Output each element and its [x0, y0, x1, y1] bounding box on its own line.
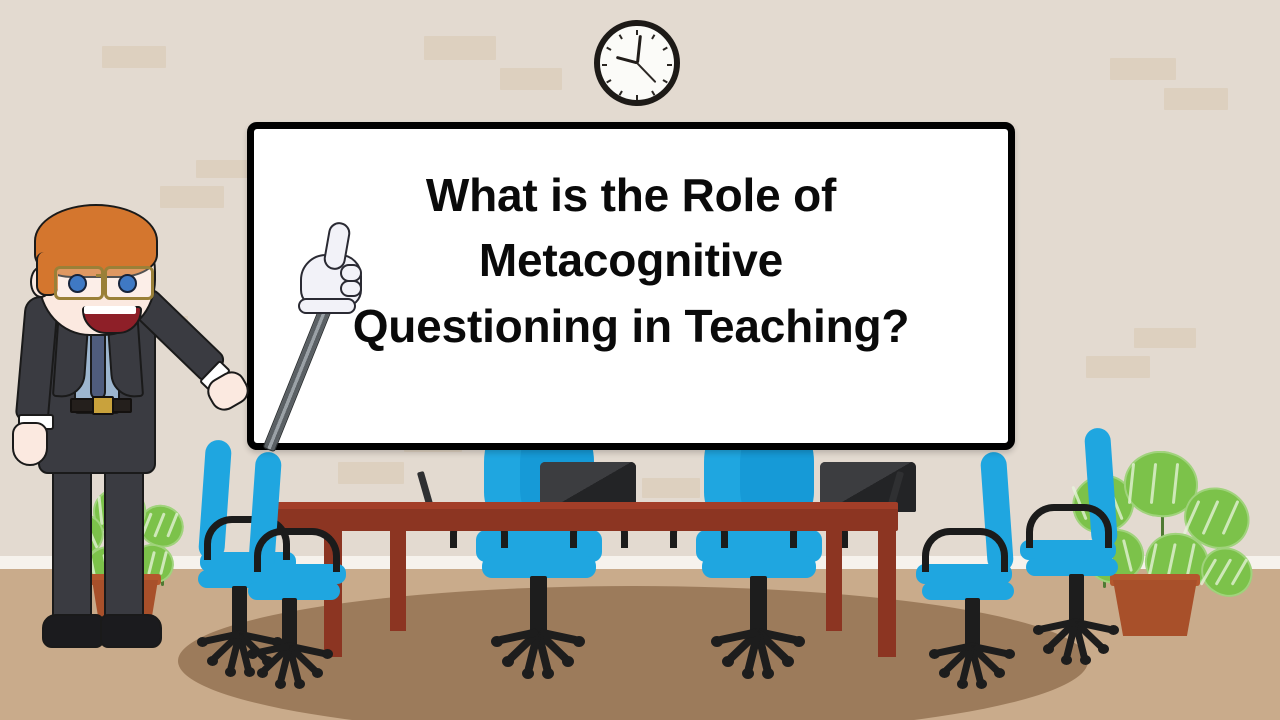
clock-tick: [636, 30, 638, 35]
chair-center-right-seat-front: [702, 556, 816, 578]
table-leg-right: [878, 531, 896, 657]
wall-brick: [1134, 328, 1196, 348]
chair-left-inner-armrest: [254, 528, 340, 572]
clock-tick: [602, 64, 607, 66]
title-line-2: Metacognitive: [280, 228, 982, 293]
chair-right-outer[interactable]: [1010, 428, 1120, 638]
clock-tick: [619, 34, 623, 39]
glasses-bridge: [96, 274, 106, 277]
chair-right-outer-post: [1069, 574, 1084, 622]
chair-left-inner-caster-wheel: [294, 679, 305, 689]
wall-brick: [102, 46, 166, 68]
presenter-avatar: [8, 222, 200, 672]
title-line-1: What is the Role of: [280, 163, 982, 228]
wall-brick: [424, 36, 496, 60]
clock-tick: [662, 79, 667, 83]
chair-right-outer-armrest: [1026, 504, 1112, 548]
clock-tick: [606, 79, 611, 83]
chair-right-inner-armrest: [922, 528, 1008, 572]
leg-left: [52, 454, 92, 630]
chair-center-right-caster-wheel: [762, 668, 774, 679]
glove-cuff: [298, 298, 356, 314]
clock-tick: [619, 90, 623, 95]
clock-tick: [606, 47, 611, 51]
chair-left-outer-post: [232, 586, 247, 634]
eye-left: [68, 274, 87, 293]
clock-tick: [651, 34, 655, 39]
chair-center-left-post: [530, 576, 547, 632]
clock-tick: [662, 47, 667, 51]
table-leg-right-inner: [826, 531, 842, 631]
wall-brick: [1086, 356, 1150, 378]
hand-left: [12, 422, 48, 466]
wall-brick: [1110, 58, 1176, 80]
eye-right: [118, 274, 137, 293]
belt-buckle: [92, 396, 114, 415]
wall-brick: [642, 478, 700, 498]
clock-tick: [651, 90, 655, 95]
clock-hour-hand: [615, 56, 637, 65]
clock-tick: [636, 95, 638, 100]
chair-right-inner-caster-wheel: [976, 679, 987, 689]
chair-center-right-caster-wheel: [793, 636, 805, 647]
chair-center-right-post: [750, 576, 767, 632]
plant-right-pot: [1113, 580, 1197, 636]
glove-knuckle-2: [340, 280, 362, 297]
chair-center-left-caster-wheel: [573, 636, 585, 647]
chair-right-outer-caster-wheel: [1080, 655, 1091, 665]
chair-center-left-caster-wheel: [542, 668, 554, 679]
teeth: [84, 306, 136, 314]
chair-right-inner-post: [965, 598, 980, 646]
pointer-glove-hand: [296, 224, 370, 310]
clock-minute-hand: [636, 35, 642, 63]
chair-center-left-seat-front: [482, 556, 596, 578]
chair-left-inner-post: [282, 598, 297, 646]
leg-right: [104, 454, 144, 630]
chair-left-inner[interactable]: [246, 452, 356, 662]
shoe-left: [42, 614, 104, 648]
shoe-right: [100, 614, 162, 648]
wall-brick: [1164, 88, 1228, 110]
table-leg-left-inner: [390, 531, 406, 631]
wall-clock-icon: [594, 20, 680, 106]
chair-left-outer-caster-wheel: [244, 667, 255, 677]
clock-tick: [667, 64, 672, 66]
title-line-3: Questioning in Teaching?: [280, 294, 982, 359]
wall-brick: [196, 160, 248, 178]
wall-brick: [160, 186, 224, 208]
wall-brick: [500, 68, 562, 90]
clock-second-hand: [636, 62, 656, 83]
chair-right-inner[interactable]: [906, 452, 1016, 662]
slide-canvas: What is the Role of Metacognitive Questi…: [0, 0, 1280, 720]
